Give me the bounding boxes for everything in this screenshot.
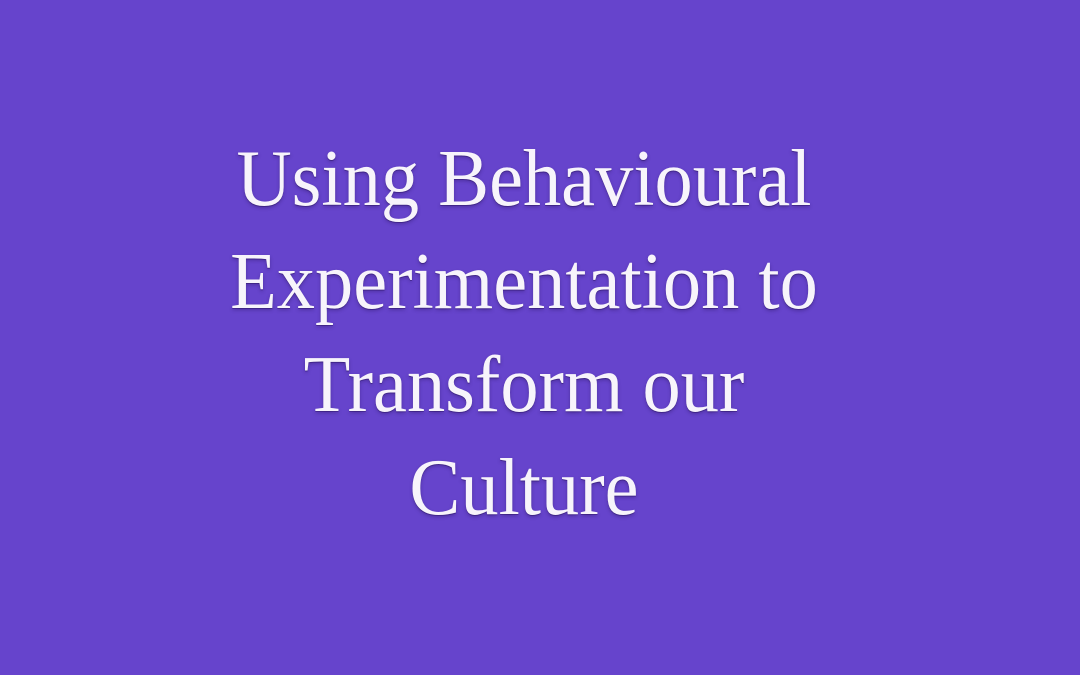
title-line-3: Transform our (113, 334, 934, 437)
title-line-4: Culture (113, 437, 934, 540)
title-line-1: Using Behavioural (113, 128, 934, 231)
title-slide: Using Behavioural Experimentation to Tra… (0, 0, 1080, 675)
slide-title: Using Behavioural Experimentation to Tra… (94, 128, 954, 540)
title-line-2: Experimentation to (113, 231, 934, 334)
